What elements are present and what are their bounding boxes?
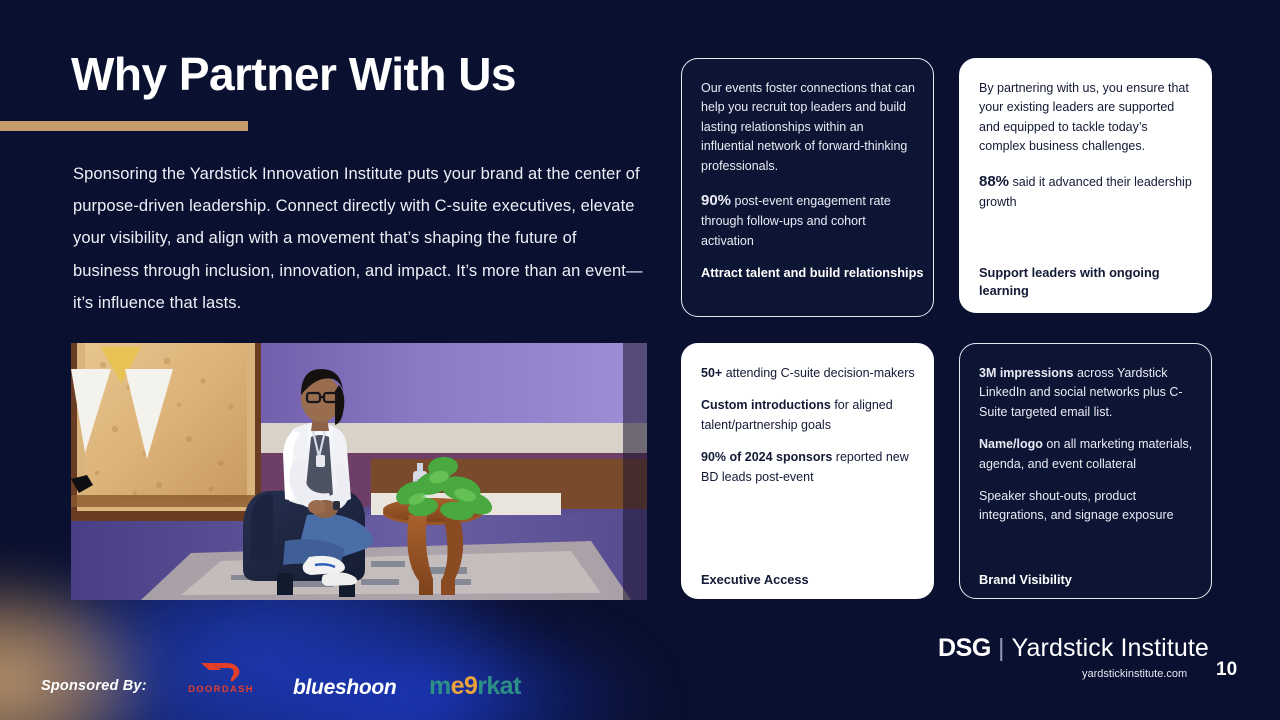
card-bullet: Name/logo on all marketing materials, ag… — [979, 435, 1195, 474]
card-stat: 90% post-event engagement rate through f… — [701, 189, 917, 251]
benefit-card-attract-talent[interactable]: Our events foster connections that can h… — [681, 58, 934, 317]
card-bullet: 3M impressions across Yardstick LinkedIn… — [979, 364, 1195, 422]
card-stat: 88% said it advanced their leadership gr… — [979, 170, 1195, 213]
card-bullet-lead: 3M impressions — [979, 366, 1073, 380]
doordash-chevron-icon — [199, 660, 245, 682]
card-body: Our events foster connections that can h… — [701, 79, 917, 264]
card-bullet-lead: Name/logo — [979, 437, 1043, 451]
stage-photo — [71, 343, 647, 600]
card-kicker: Executive Access — [701, 571, 809, 589]
card-kicker: Brand Visibility — [979, 571, 1072, 589]
sponsor-logo-meerkat[interactable]: me9rkat — [429, 672, 521, 701]
benefit-card-brand-visibility[interactable]: 3M impressions across Yardstick LinkedIn… — [959, 343, 1212, 599]
card-stat-value: 88% — [979, 173, 1009, 190]
card-bullet: 90% of 2024 sponsors reported new BD lea… — [701, 448, 917, 487]
doordash-wordmark: DOORDASH — [183, 684, 259, 695]
brand-logo-divider: | — [998, 634, 1005, 663]
card-bullet: Speaker shout-outs, product integrations… — [979, 487, 1195, 526]
benefit-card-executive-access[interactable]: 50+ attending C-suite decision-makers Cu… — [681, 343, 934, 599]
card-bullet-rest: attending C-suite decision-makers — [722, 366, 914, 380]
sponsored-by-label: Sponsored By: — [41, 678, 147, 694]
website-url[interactable]: yardstickinstitute.com — [1082, 668, 1187, 680]
stage-photo-illustration — [71, 343, 647, 600]
benefit-card-support-leaders[interactable]: By partnering with us, you ensure that y… — [959, 58, 1212, 313]
card-body: By partnering with us, you ensure that y… — [979, 79, 1195, 225]
card-bullet-lead: 90% of 2024 sponsors — [701, 450, 832, 464]
card-stat-text: said it advanced their leadership growth — [979, 175, 1192, 209]
card-body: 3M impressions across Yardstick LinkedIn… — [979, 364, 1195, 539]
page-number: 10 — [1216, 659, 1237, 681]
sponsor-logo-blueshoon[interactable]: blueshoon — [293, 676, 396, 700]
card-stat-value: 90% — [701, 192, 731, 209]
slide-canvas: Why Partner With Us Sponsoring the Yards… — [0, 0, 1280, 720]
brand-logo-dsg: DSG — [938, 634, 991, 662]
card-body: 50+ attending C-suite decision-makers Cu… — [701, 364, 917, 500]
card-bullet-rest: Speaker shout-outs, product integrations… — [979, 489, 1174, 522]
card-bullet-lead: Custom introductions — [701, 398, 831, 412]
card-bullet: Custom introductions for aligned talent/… — [701, 396, 917, 435]
meerkat-accent-glyph: e9 — [451, 672, 478, 700]
accent-bar — [0, 121, 248, 131]
brand-logo-yardstick: Yardstick Institute — [1012, 634, 1209, 662]
card-paragraph: By partnering with us, you ensure that y… — [979, 79, 1195, 157]
card-paragraph: Our events foster connections that can h… — [701, 79, 917, 176]
card-bullet-lead: 50+ — [701, 366, 722, 380]
brand-logo: DSG|Yardstick Institute — [938, 634, 1209, 663]
intro-paragraph: Sponsoring the Yardstick Innovation Inst… — [73, 158, 645, 319]
page-title: Why Partner With Us — [71, 50, 516, 98]
card-kicker: Attract talent and build relationships — [701, 264, 924, 282]
card-kicker: Support leaders with ongoing learning — [979, 264, 1211, 300]
card-bullet: 50+ attending C-suite decision-makers — [701, 364, 917, 383]
sponsor-logo-doordash[interactable]: DOORDASH — [183, 660, 259, 702]
